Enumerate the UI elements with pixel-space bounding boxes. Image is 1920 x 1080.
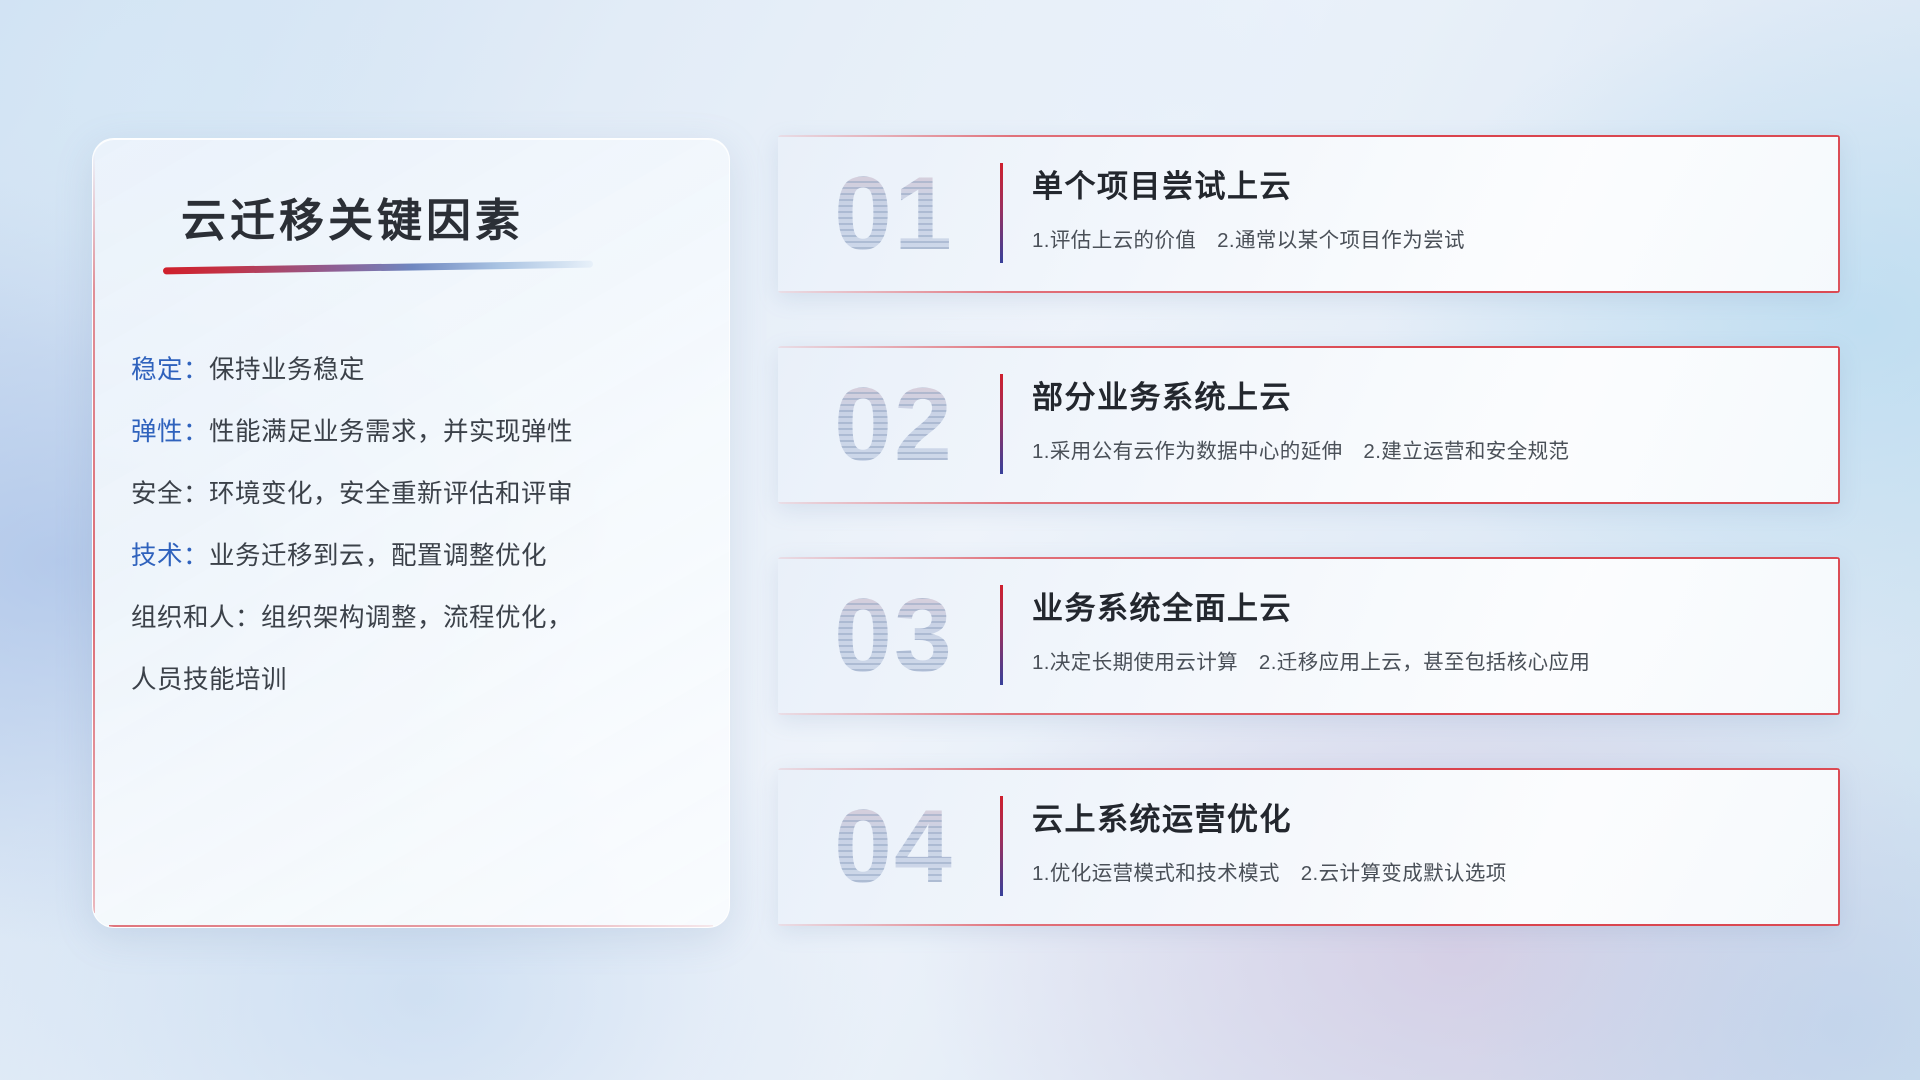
card-top-border	[778, 346, 1840, 348]
step-card-03[interactable]: 03 业务系统全面上云 1.决定长期使用云计算 2.迁移应用上云，甚至包括核心应…	[778, 557, 1840, 715]
page-title: 云迁移关键因素	[181, 184, 524, 249]
factor-text: 业务迁移到云，配置调整优化	[209, 542, 547, 570]
factor-item-organization: 组织和人：组织架构调整，流程优化，	[131, 587, 701, 649]
factor-item-elasticity: 弹性：性能满足业务需求，并实现弹性	[131, 401, 701, 463]
step-description: 1.评估上云的价值 2.通常以某个项目作为尝试	[1032, 223, 1465, 253]
factor-label: 技术：	[131, 542, 209, 570]
panel-left-accent-edge	[93, 153, 95, 913]
step-description: 1.优化运营模式和技术模式 2.云计算变成默认选项	[1032, 856, 1507, 886]
card-top-border	[778, 768, 1840, 770]
factor-label: 稳定：	[131, 356, 209, 384]
factor-text: 组织架构调整，流程优化，	[261, 604, 573, 632]
step-title: 云上系统运营优化	[1032, 794, 1292, 839]
factor-list: 稳定：保持业务稳定 弹性：性能满足业务需求，并实现弹性 安全：环境变化，安全重新…	[131, 339, 701, 711]
card-top-border	[778, 557, 1840, 559]
card-right-border	[1838, 135, 1840, 293]
factor-item-security: 安全：环境变化，安全重新评估和评审	[131, 463, 701, 525]
step-number-watermark: 01	[804, 151, 984, 277]
step-description: 1.采用公有云作为数据中心的延伸 2.建立运营和安全规范	[1032, 434, 1569, 464]
factor-text: 人员技能培训	[131, 666, 287, 694]
step-number-watermark: 02	[804, 362, 984, 488]
factor-item-technology: 技术：业务迁移到云，配置调整优化	[131, 525, 701, 587]
card-right-border	[1838, 557, 1840, 715]
slide-canvas: 云迁移关键因素 稳定：保持业务稳定 弹性：性能满足业务需求，并实现弹性 安全：环…	[0, 0, 1920, 1080]
migration-steps-list: 01 单个项目尝试上云 1.评估上云的价值 2.通常以某个项目作为尝试 02 部…	[778, 135, 1840, 979]
step-number-watermark: 03	[804, 573, 984, 699]
step-description: 1.决定长期使用云计算 2.迁移应用上云，甚至包括核心应用	[1032, 645, 1590, 675]
step-accent-bar	[1000, 796, 1003, 896]
card-bottom-border	[778, 291, 1840, 293]
title-underline-gradient	[163, 261, 593, 275]
step-card-04[interactable]: 04 云上系统运营优化 1.优化运营模式和技术模式 2.云计算变成默认选项	[778, 768, 1840, 926]
step-number-watermark: 04	[804, 784, 984, 910]
step-title: 单个项目尝试上云	[1032, 161, 1292, 206]
step-accent-bar	[1000, 374, 1003, 474]
panel-bottom-accent-edge	[109, 925, 713, 927]
step-title: 部分业务系统上云	[1032, 372, 1292, 417]
card-top-border	[778, 135, 1840, 137]
card-bottom-border	[778, 502, 1840, 504]
factor-item-organization-cont: 人员技能培训	[131, 649, 701, 711]
factor-text: 环境变化，安全重新评估和评审	[209, 480, 573, 508]
step-card-02[interactable]: 02 部分业务系统上云 1.采用公有云作为数据中心的延伸 2.建立运营和安全规范	[778, 346, 1840, 504]
factor-label: 组织和人：	[131, 604, 261, 632]
card-right-border	[1838, 768, 1840, 926]
factor-text: 性能满足业务需求，并实现弹性	[209, 418, 573, 446]
step-accent-bar	[1000, 585, 1003, 685]
card-bottom-border	[778, 713, 1840, 715]
factor-item-stability: 稳定：保持业务稳定	[131, 339, 701, 401]
card-bottom-border	[778, 924, 1840, 926]
card-right-border	[1838, 346, 1840, 504]
step-title: 业务系统全面上云	[1032, 583, 1292, 628]
key-factors-panel: 云迁移关键因素 稳定：保持业务稳定 弹性：性能满足业务需求，并实现弹性 安全：环…	[92, 138, 730, 928]
step-accent-bar	[1000, 163, 1003, 263]
factor-label: 弹性：	[131, 418, 209, 446]
step-card-01[interactable]: 01 单个项目尝试上云 1.评估上云的价值 2.通常以某个项目作为尝试	[778, 135, 1840, 293]
factor-text: 保持业务稳定	[209, 356, 365, 384]
factor-label: 安全：	[131, 480, 209, 508]
